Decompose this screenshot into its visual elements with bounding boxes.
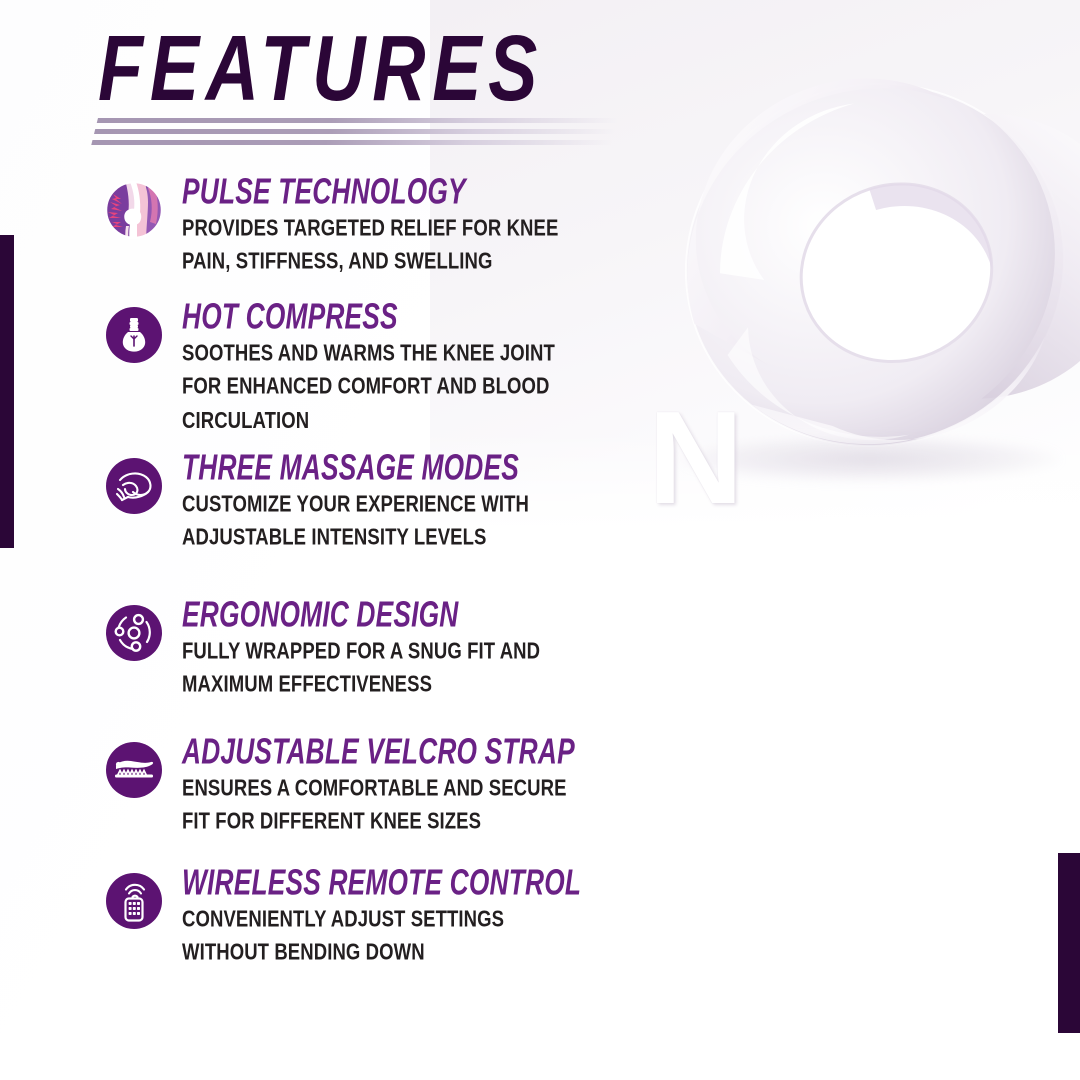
feature-description: CUSTOMIZE YOUR EXPERIENCE WITH ADJUSTABL… [182,488,581,555]
knee-joint-icon [104,180,164,240]
feature-description: SOOTHES AND WARMS THE KNEE JOINT FOR ENH… [182,337,581,438]
feature-description: CONVENIENTLY ADJUST SETTINGS WITHOUT BEN… [182,903,581,970]
feature-item: ERGONOMIC DESIGN FULLY WRAPPED FOR A SNU… [104,597,804,692]
feature-title: HOT COMPRESS [182,299,767,335]
rule-line-2 [94,129,615,134]
feature-text-block: PULSE TECHNOLOGY PROVIDES TARGETED RELIE… [182,174,804,269]
feature-text-block: ADJUSTABLE VELCRO STRAP ENSURES A COMFOR… [182,734,804,829]
feature-text-block: ERGONOMIC DESIGN FULLY WRAPPED FOR A SNU… [182,597,804,692]
feature-item: THREE MASSAGE MODES CUSTOMIZE YOUR EXPER… [104,450,804,545]
feature-title: PULSE TECHNOLOGY [182,174,767,210]
left-accent-bar [0,235,14,548]
title-underline-rules [90,118,618,152]
massage-hand-icon [104,456,164,516]
hot-water-bottle-icon [104,305,164,365]
feature-text-block: WIRELESS REMOTE CONTROL CONVENIENTLY ADJ… [182,865,804,960]
velcro-strap-icon [104,740,164,800]
rule-line-3 [91,140,612,145]
feature-item: PULSE TECHNOLOGY PROVIDES TARGETED RELIE… [104,174,804,269]
page-header: FEATURES [98,22,718,100]
remote-control-icon [104,871,164,931]
page-title: FEATURES [98,22,699,117]
feature-title: ADJUSTABLE VELCRO STRAP [182,734,767,770]
orbital-nodes-icon [104,603,164,663]
right-accent-bar [1058,853,1080,1033]
rule-line-1 [97,118,618,123]
feature-title: ERGONOMIC DESIGN [182,597,767,633]
feature-item: WIRELESS REMOTE CONTROL CONVENIENTLY ADJ… [104,865,804,960]
feature-text-block: HOT COMPRESS SOOTHES AND WARMS THE KNEE … [182,299,804,422]
feature-text-block: THREE MASSAGE MODES CUSTOMIZE YOUR EXPER… [182,450,804,545]
feature-item: ADJUSTABLE VELCRO STRAP ENSURES A COMFOR… [104,734,804,829]
feature-description: ENSURES A COMFORTABLE AND SECURE FIT FOR… [182,772,581,839]
feature-title: WIRELESS REMOTE CONTROL [182,865,767,901]
feature-description: FULLY WRAPPED FOR A SNUG FIT AND MAXIMUM… [182,635,581,702]
feature-item: HOT COMPRESS SOOTHES AND WARMS THE KNEE … [104,299,804,422]
feature-title: THREE MASSAGE MODES [182,450,767,486]
features-poster: N FEATURES [0,0,1080,1080]
features-list: PULSE TECHNOLOGY PROVIDES TARGETED RELIE… [104,174,804,960]
feature-description: PROVIDES TARGETED RELIEF FOR KNEE PAIN, … [182,212,581,279]
